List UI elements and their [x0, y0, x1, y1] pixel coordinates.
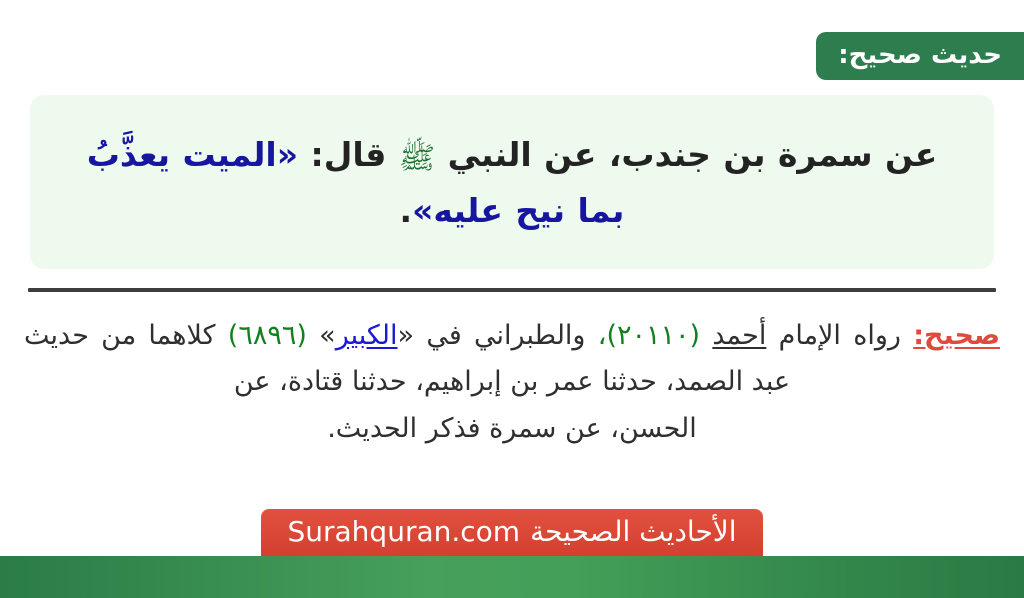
section-divider: [28, 288, 996, 292]
bottom-accent-strip: [0, 556, 1024, 598]
narration-line-1: صحيح: رواه الإمام أحمد (٢٠١١٠)، والطبران…: [24, 313, 1000, 406]
hadith-quote-open: «: [277, 135, 298, 174]
narration-source-ahmad[interactable]: أحمد: [712, 320, 766, 351]
narration-segment-3: »: [319, 320, 336, 351]
narration-grade-label: صحيح:: [913, 320, 1000, 351]
hadith-quote-close: »: [412, 191, 433, 230]
brand-banner: الأحاديث الصحيحة Surahquran.com: [0, 509, 1024, 556]
hadith-narrator-intro: عن سمرة بن جندب، عن النبي: [448, 135, 938, 174]
hadith-said-word: قال:: [311, 135, 387, 174]
narration-segment-1: رواه الإمام: [779, 320, 901, 351]
brand-pill[interactable]: الأحاديث الصحيحة Surahquran.com: [261, 509, 762, 556]
hadith-text-box: عن سمرة بن جندب، عن النبي ﷺ قال: «الميت …: [30, 95, 994, 269]
brand-site-url[interactable]: Surahquran.com: [287, 518, 520, 546]
narration-segment-2: والطبراني في «: [398, 320, 586, 351]
narration-block: صحيح: رواه الإمام أحمد (٢٠١١٠)، والطبران…: [24, 313, 1000, 452]
hadith-card: حديث صحيح: عن سمرة بن جندب، عن النبي ﷺ ق…: [0, 0, 1024, 598]
hadith-quote-line-1: الميت: [182, 135, 276, 174]
hadith-end-period: .: [400, 191, 413, 230]
brand-arabic-label: الأحاديث الصحيحة: [530, 518, 736, 546]
hadith-body: عن سمرة بن جندب، عن النبي ﷺ قال: «الميت …: [64, 128, 960, 237]
narration-line-3: الحسن، عن سمرة فذكر الحديث.: [24, 406, 1000, 452]
sallallahu-alayhi-wasallam-icon: ﷺ: [399, 135, 435, 184]
grade-badge-row: حديث صحيح:: [0, 32, 1024, 80]
narration-ref-2: (٦٨٩٦): [228, 320, 307, 351]
narration-source-alkabir[interactable]: الكبير: [336, 320, 398, 351]
status-badge: حديث صحيح:: [816, 32, 1024, 80]
narration-ref-1: (٢٠١١٠)،: [598, 320, 700, 351]
